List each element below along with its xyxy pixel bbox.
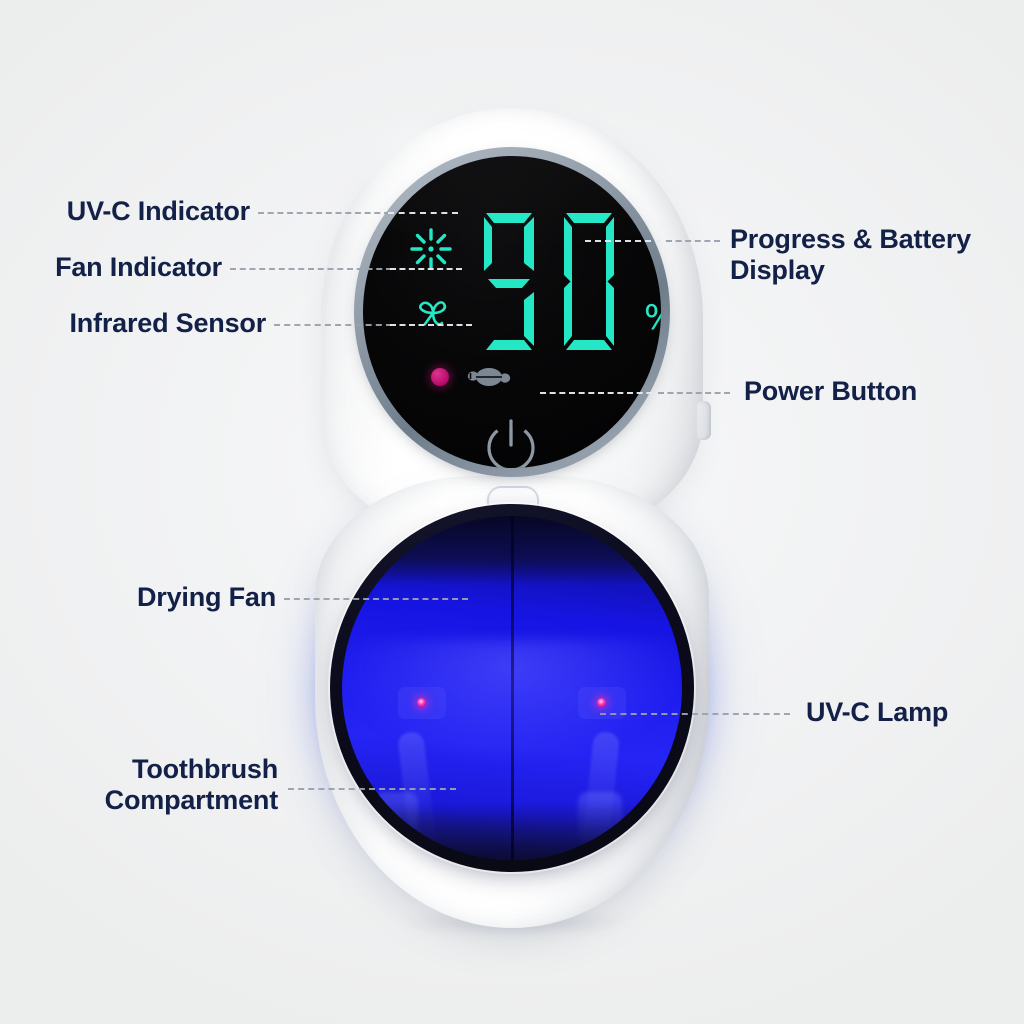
uvc-lamp-led bbox=[417, 698, 426, 707]
leader-line-drying-fan bbox=[284, 598, 468, 600]
annotation-drying-fan: Drying Fan bbox=[0, 582, 276, 613]
chamber-center-divider bbox=[511, 516, 514, 860]
annotation-uvc-lamp: UV-C Lamp bbox=[806, 697, 1024, 728]
progress-digit-units bbox=[556, 209, 622, 354]
leader-line-infrared-sensor-dark bbox=[390, 324, 472, 326]
annotation-power-button: Power Button bbox=[744, 376, 1024, 407]
annotation-infrared-sensor: Infrared Sensor bbox=[0, 308, 266, 339]
leader-line-progress-display bbox=[666, 240, 720, 242]
chamber-glass-window bbox=[342, 516, 682, 860]
diagram-stage: % bbox=[0, 0, 1024, 1024]
annotation-fan-indicator: Fan Indicator bbox=[0, 252, 222, 283]
infrared-sensor-glyph bbox=[467, 364, 511, 390]
leader-line-power-button-dark bbox=[540, 392, 662, 394]
infrared-sensor-led bbox=[431, 368, 449, 386]
uvc-burst-icon bbox=[410, 228, 452, 270]
leader-line-infrared-sensor bbox=[274, 324, 392, 326]
leader-line-uvc-lamp bbox=[600, 713, 790, 715]
uv-sanitizer-device: % bbox=[315, 108, 709, 928]
leader-line-power-button bbox=[658, 392, 730, 394]
progress-percent-symbol: % bbox=[644, 301, 661, 335]
leader-line-uvc-indicator-dark bbox=[388, 212, 458, 214]
annotation-progress-battery-display: Progress & Battery Display bbox=[730, 224, 1020, 286]
side-button-tab[interactable] bbox=[697, 401, 711, 440]
leader-line-toothbrush-compartment bbox=[288, 788, 456, 790]
leader-line-progress-display-dark bbox=[585, 240, 671, 242]
power-button[interactable] bbox=[482, 416, 540, 468]
toothbrush-compartment[interactable] bbox=[330, 504, 694, 872]
progress-readout: % bbox=[476, 209, 636, 354]
progress-battery-display[interactable]: % bbox=[363, 156, 661, 468]
leader-line-fan-indicator bbox=[230, 268, 392, 270]
fan-blade-icon bbox=[413, 293, 453, 333]
progress-digit-tens bbox=[476, 209, 542, 354]
leader-line-uvc-indicator bbox=[258, 212, 390, 214]
annotation-toothbrush-compartment: Toothbrush Compartment bbox=[0, 754, 278, 816]
leader-line-fan-indicator-dark bbox=[390, 268, 462, 270]
annotation-uvc-indicator: UV-C Indicator bbox=[0, 196, 250, 227]
display-bezel-ring: % bbox=[354, 147, 670, 477]
uvc-lamp-led bbox=[597, 698, 606, 707]
